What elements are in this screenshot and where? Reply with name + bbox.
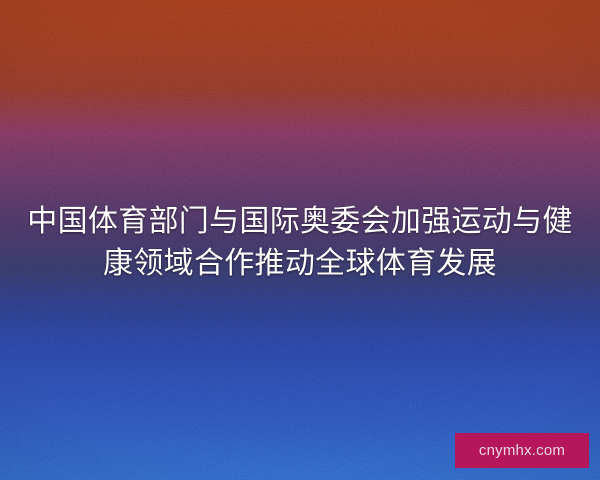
poster-title: 中国体育部门与国际奥委会加强运动与健 康领域合作推动全球体育发展	[0, 201, 600, 285]
poster-canvas: 中国体育部门与国际奥委会加强运动与健 康领域合作推动全球体育发展 cnymhx.…	[0, 0, 600, 480]
watermark-badge[interactable]: cnymhx.com	[455, 433, 589, 468]
title-line-1: 中国体育部门与国际奥委会加强运动与健	[14, 201, 586, 243]
title-line-2: 康领域合作推动全球体育发展	[14, 243, 586, 285]
watermark-label: cnymhx.com	[479, 443, 565, 458]
